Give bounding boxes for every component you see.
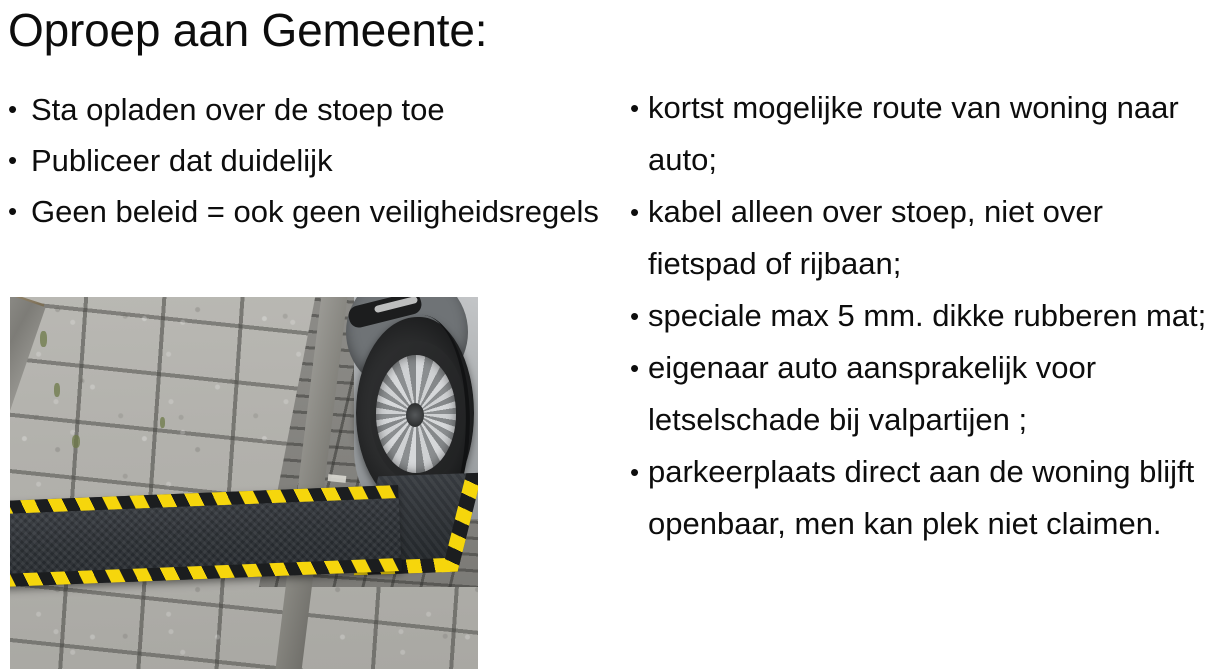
cable-mat-photo bbox=[10, 297, 478, 669]
list-item: eigenaar auto aansprakelijk voor letsels… bbox=[628, 342, 1218, 446]
left-bullet-list: Sta opladen over de stoep toe Publiceer … bbox=[4, 84, 604, 237]
list-item: kabel alleen over stoep, niet over fiets… bbox=[628, 186, 1218, 290]
list-item: parkeerplaats direct aan de woning blijf… bbox=[628, 446, 1218, 550]
weed-tuft bbox=[160, 417, 165, 428]
right-bullet-list: kortst mogelijke route van woning naar a… bbox=[628, 82, 1218, 550]
left-text-column: Sta opladen over de stoep toe Publiceer … bbox=[4, 84, 604, 237]
list-item: Sta opladen over de stoep toe bbox=[4, 84, 604, 135]
list-item: Publiceer dat duidelijk bbox=[4, 135, 604, 186]
list-item: speciale max 5 mm. dikke rubberen mat; bbox=[628, 290, 1218, 342]
list-item: kortst mogelijke route van woning naar a… bbox=[628, 82, 1218, 186]
list-item: Geen beleid = ook geen veiligheidsregels bbox=[4, 186, 604, 237]
rubber-cable-mat bbox=[10, 485, 402, 587]
page-title: Oproep aan Gemeente: bbox=[8, 2, 608, 58]
right-text-column: kortst mogelijke route van woning naar a… bbox=[628, 82, 1218, 550]
weed-tuft bbox=[40, 331, 47, 347]
weed-tuft bbox=[54, 383, 60, 397]
weed-tuft bbox=[72, 435, 80, 448]
